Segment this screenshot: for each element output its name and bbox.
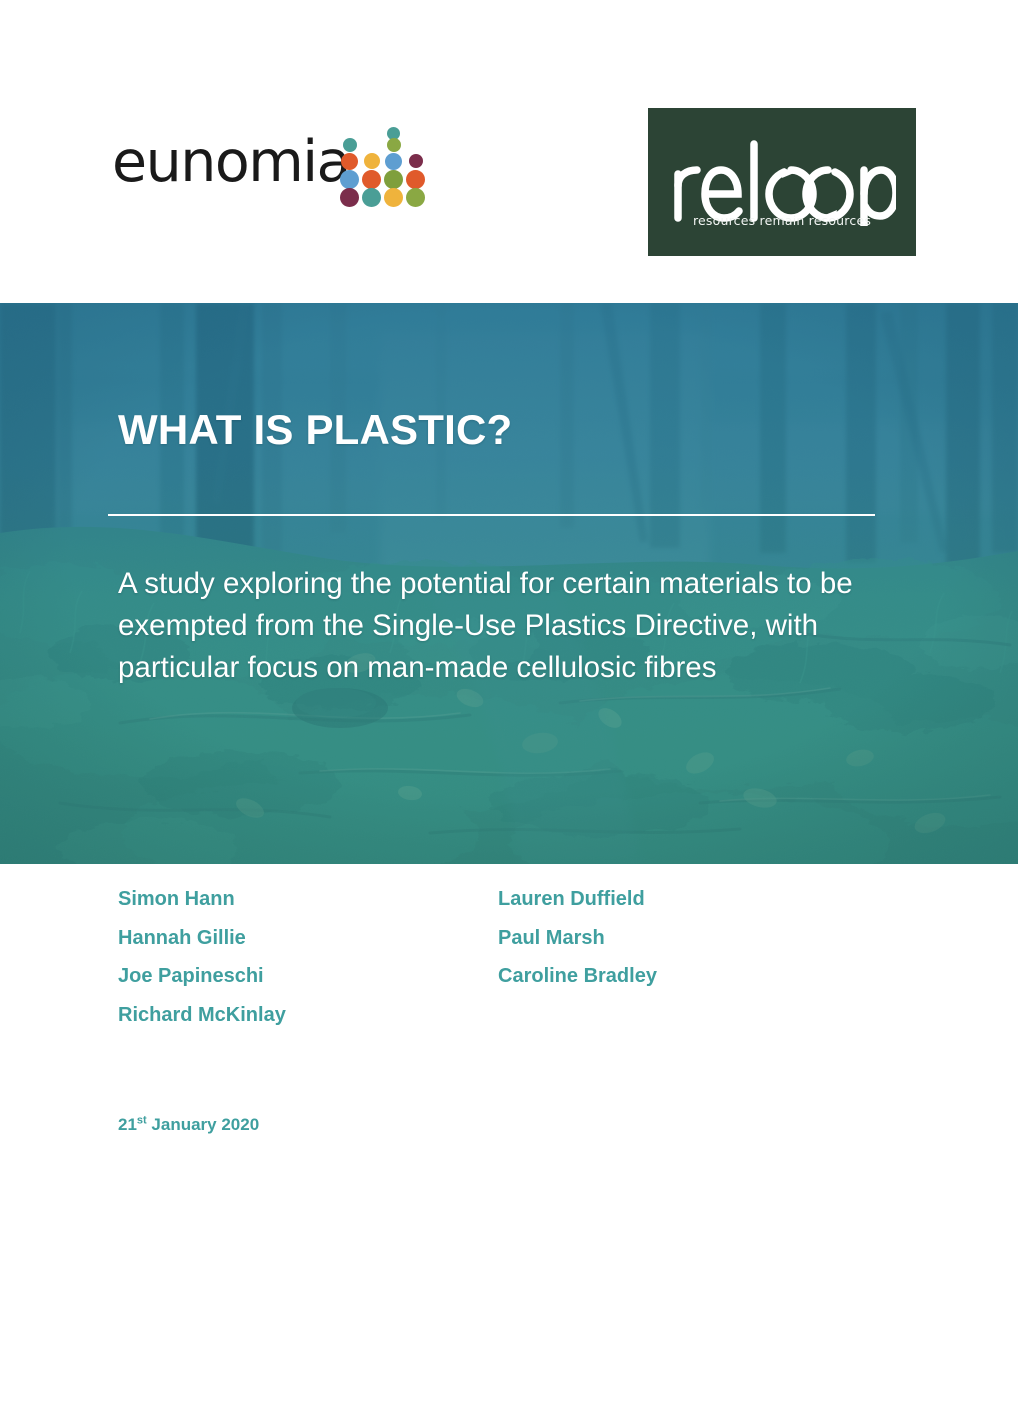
reloop-logo: resources remain resources <box>648 108 916 256</box>
eunomia-dot-r4-c1 <box>340 170 359 189</box>
eunomia-dot-matrix-icon <box>340 126 424 194</box>
hero-banner: WHAT IS PLASTIC? A study exploring the p… <box>0 303 1018 864</box>
header-logo-band: eunomia <box>0 0 1018 303</box>
eunomia-dot-r3-c2 <box>364 153 380 169</box>
eunomia-dot-r4-c3 <box>384 170 403 189</box>
page-subtitle: A study exploring the potential for cert… <box>118 563 878 689</box>
author-column-right: Lauren DuffieldPaul MarshCaroline Bradle… <box>498 880 818 1034</box>
title-divider-rule <box>108 514 875 516</box>
eunomia-dot-r5-c4 <box>406 188 425 207</box>
author-column-left: Simon HannHannah GillieJoe PapineschiRic… <box>118 880 498 1034</box>
eunomia-wordmark: eunomia <box>112 132 350 192</box>
eunomia-dot-r3-c4 <box>409 154 423 168</box>
author-name: Hannah Gillie <box>118 919 498 958</box>
eunomia-dot-r3-c3 <box>385 153 402 170</box>
author-name: Paul Marsh <box>498 919 818 958</box>
eunomia-dot-r3-c1 <box>341 153 358 170</box>
eunomia-dot-r5-c1 <box>340 188 359 207</box>
author-name: Joe Papineschi <box>118 957 498 996</box>
author-name: Richard McKinlay <box>118 996 498 1035</box>
hero-text-block: WHAT IS PLASTIC? A study exploring the p… <box>0 303 1018 864</box>
publication-date: 21st January 2020 <box>118 1115 259 1135</box>
eunomia-logo: eunomia <box>112 126 424 196</box>
date-ordinal-suffix: st <box>137 1114 147 1126</box>
author-name: Lauren Duffield <box>498 880 818 919</box>
reloop-tagline: resources remain resources <box>648 213 916 228</box>
author-name: Caroline Bradley <box>498 957 818 996</box>
date-month-year: January 2020 <box>147 1115 259 1134</box>
eunomia-dot-r4-c4 <box>406 170 425 189</box>
author-list: Simon HannHannah GillieJoe PapineschiRic… <box>118 880 818 1034</box>
eunomia-dot-r2-c3 <box>387 138 401 152</box>
eunomia-dot-r2-c1 <box>343 138 357 152</box>
page-title: WHAT IS PLASTIC? <box>118 406 512 454</box>
author-name: Simon Hann <box>118 880 498 919</box>
eunomia-dot-r4-c2 <box>362 170 381 189</box>
eunomia-dot-r5-c2 <box>362 188 381 207</box>
eunomia-dot-r5-c3 <box>384 188 403 207</box>
date-day: 21 <box>118 1115 137 1134</box>
